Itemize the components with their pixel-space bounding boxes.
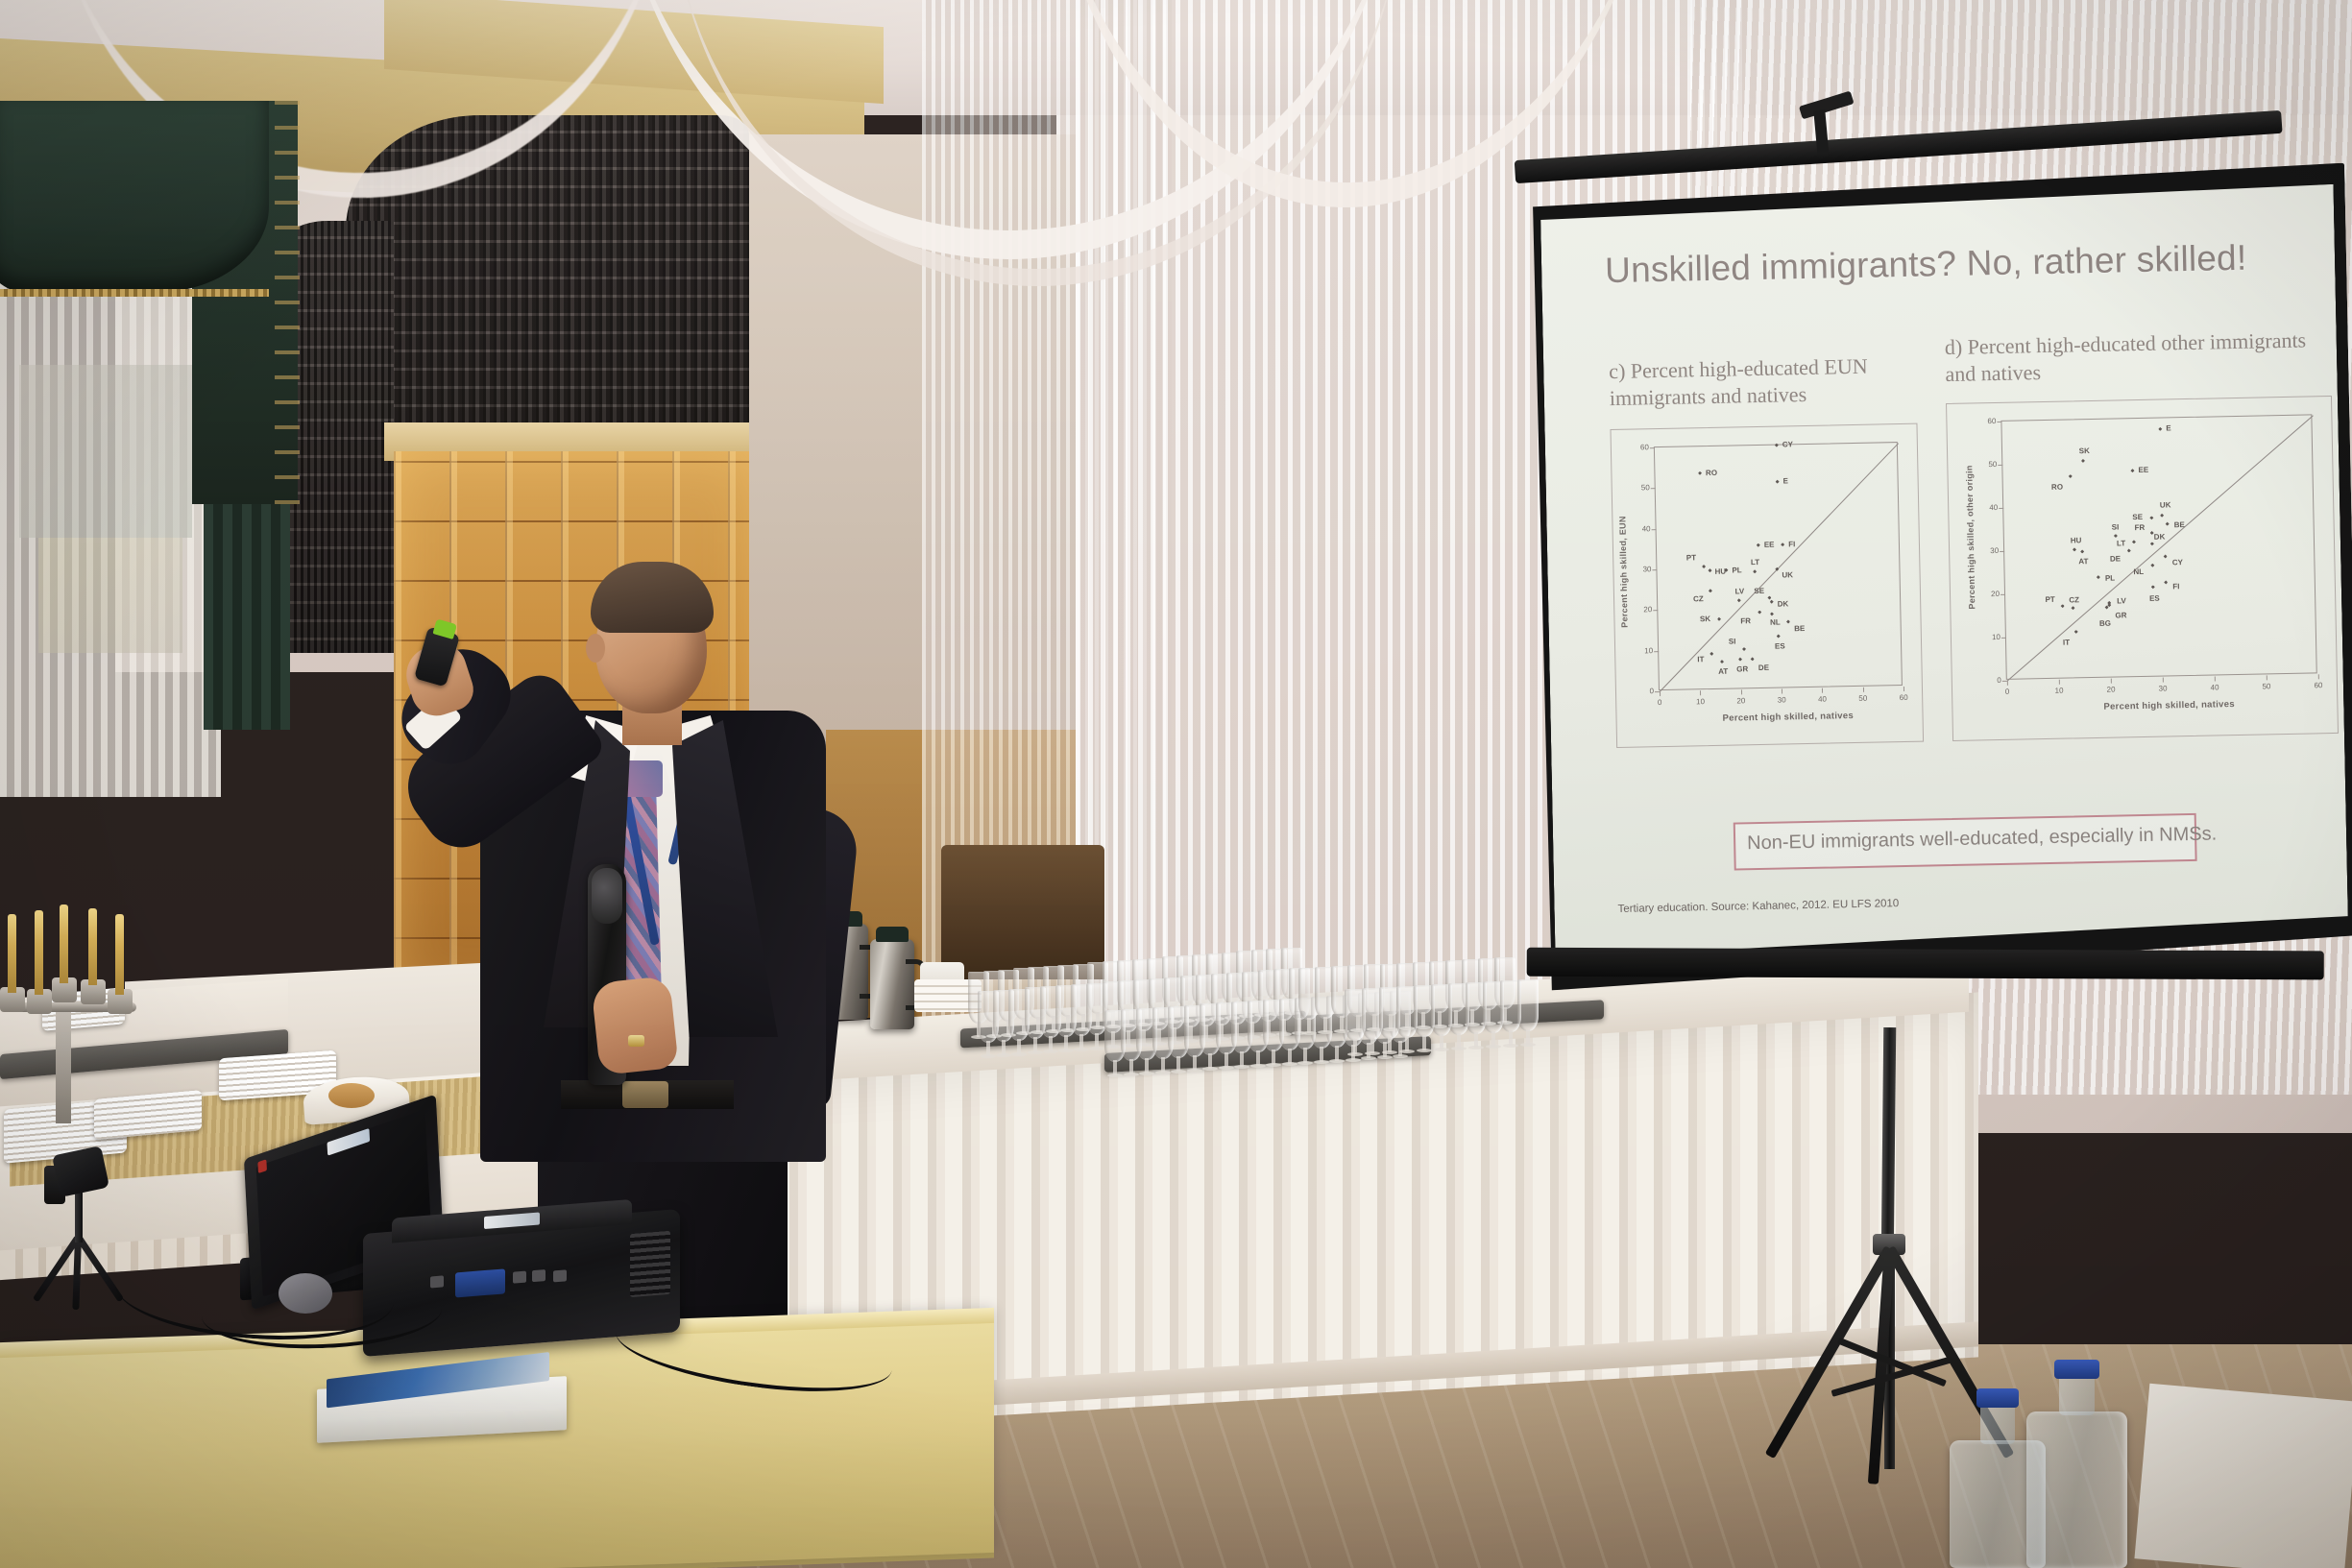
data-point-label: LV xyxy=(2117,597,2126,606)
data-point xyxy=(2114,534,2118,538)
y-axis-tick xyxy=(1997,422,2001,422)
data-point-label: FI xyxy=(2172,582,2179,591)
x-axis-tick-label: 50 xyxy=(2258,682,2275,690)
data-point xyxy=(1753,569,1757,573)
reference-diagonal xyxy=(2006,416,2313,682)
data-point-label: FI xyxy=(1788,540,1795,548)
y-axis-tick xyxy=(1998,465,2002,466)
data-point-label: CY xyxy=(2172,558,2183,567)
y-axis-tick-label: 20 xyxy=(1635,606,1652,615)
data-point xyxy=(2071,606,2074,610)
x-axis-title: Percent high skilled, natives xyxy=(2103,699,2235,712)
data-point xyxy=(1751,657,1755,661)
data-point-label: SE xyxy=(2132,512,2143,520)
data-point xyxy=(1742,647,1746,651)
data-point-label: IT xyxy=(1697,655,1704,663)
y-axis-tick-label: 50 xyxy=(1633,484,1650,493)
y-axis-tick-label: 0 xyxy=(1984,676,2001,685)
projection-screen: Unskilled immigrants? No, rather skilled… xyxy=(1528,162,2352,1024)
screen-tripod-upper-pole xyxy=(1881,1027,1897,1258)
y-axis-tick xyxy=(2001,638,2006,639)
projector-port xyxy=(532,1269,546,1282)
x-axis-tick xyxy=(2163,678,2164,683)
data-point xyxy=(2150,564,2154,567)
reference-diagonal xyxy=(1660,443,1900,692)
data-point xyxy=(1770,612,1774,615)
screen-surface: Unskilled immigrants? No, rather skilled… xyxy=(1540,184,2349,958)
x-axis-tick-label: 10 xyxy=(2050,687,2068,695)
data-point xyxy=(1757,543,1760,547)
paper-sheet xyxy=(2134,1384,2352,1568)
y-axis-tick xyxy=(1999,508,2003,509)
y-axis-tick xyxy=(2000,551,2004,552)
data-point-label: PT xyxy=(1686,553,1696,562)
data-point xyxy=(2164,580,2168,584)
data-point xyxy=(2080,549,2084,553)
panel-d-caption: d) Percent high-educated other immigrant… xyxy=(1945,326,2330,388)
y-axis-tick-label: 50 xyxy=(1979,460,1997,469)
data-point xyxy=(2164,554,2168,558)
y-axis-tick xyxy=(1653,610,1658,611)
data-point-label: RO xyxy=(1706,468,1717,476)
green-valance xyxy=(0,101,269,293)
panel-c-caption: c) Percent high-educated EUN immigrants … xyxy=(1609,351,1927,412)
data-point-label: NL xyxy=(1770,617,1781,626)
x-axis-tick xyxy=(2215,676,2216,681)
x-axis-tick-label: 40 xyxy=(2206,683,2223,691)
data-point-label: AT xyxy=(2078,557,2088,566)
plot-area-c: 01020304050600102030405060Percent high s… xyxy=(1654,442,1903,690)
data-point-label: EE xyxy=(2138,466,2148,474)
data-point xyxy=(2150,542,2154,545)
data-point xyxy=(1708,568,1711,572)
data-point-label: EE xyxy=(1764,540,1775,548)
data-point-label: FR xyxy=(2134,523,2145,532)
wedding-ring xyxy=(628,1035,644,1047)
data-point xyxy=(2105,605,2109,609)
data-point-label: ES xyxy=(1775,641,1785,650)
chart-panel-c: 01020304050600102030405060Percent high s… xyxy=(1610,423,1924,748)
projector-vga-port xyxy=(455,1268,505,1297)
y-axis-tick xyxy=(1652,529,1657,530)
data-point xyxy=(1770,600,1774,604)
data-point-label: GR xyxy=(1736,664,1748,673)
x-axis-tick-label: 30 xyxy=(1773,695,1790,704)
data-point xyxy=(2069,474,2073,478)
callout-box: Non-EU immigrants well-educated, especia… xyxy=(1734,813,2197,871)
x-axis-tick-label: 60 xyxy=(1895,693,1912,702)
data-point xyxy=(2097,575,2100,579)
bread-roll xyxy=(328,1083,375,1108)
candelabra-stem xyxy=(56,999,71,1123)
x-axis-tick-label: 0 xyxy=(1651,698,1668,707)
slide-source-note: Tertiary education. Source: Kahanec, 201… xyxy=(1617,898,1899,915)
x-axis-tick xyxy=(1741,689,1742,694)
x-axis-tick xyxy=(2007,681,2008,686)
thermos-carafe xyxy=(870,939,914,1029)
data-point xyxy=(2149,516,2153,519)
data-point xyxy=(2074,630,2078,634)
y-axis-tick xyxy=(1651,488,1656,489)
y-axis-tick xyxy=(1654,651,1659,652)
x-axis-tick-label: 50 xyxy=(1855,694,1872,703)
data-point xyxy=(1777,635,1781,639)
belt-buckle xyxy=(622,1081,668,1108)
y-axis-tick-label: 20 xyxy=(1982,590,2000,598)
y-axis-tick-label: 40 xyxy=(1980,503,1998,512)
x-axis-tick xyxy=(1903,687,1904,691)
y-axis-tick-label: 30 xyxy=(1981,546,1999,555)
data-point-label: PL xyxy=(2105,574,2115,583)
data-point-label: ES xyxy=(2149,593,2160,602)
x-axis-tick xyxy=(1660,691,1661,696)
data-point xyxy=(2107,603,2111,607)
taper-candle xyxy=(60,905,68,983)
x-axis-tick xyxy=(1700,690,1701,695)
data-point xyxy=(1720,660,1724,663)
x-axis-tick-label: 20 xyxy=(1733,696,1750,705)
y-axis-tick-label: 10 xyxy=(1636,646,1653,655)
x-axis-tick xyxy=(1822,688,1823,693)
window-pane xyxy=(19,365,192,538)
data-point-label: UK xyxy=(2160,501,2171,510)
data-point-label: SI xyxy=(2112,522,2120,531)
y-axis-tick-label: 60 xyxy=(1978,417,1996,425)
callout-text: Non-EU immigrants well-educated, especia… xyxy=(1747,823,2217,855)
data-point-label: LT xyxy=(1751,558,1759,567)
data-point-label: LT xyxy=(2117,540,2125,548)
data-point xyxy=(2166,522,2170,526)
x-axis-tick-label: 20 xyxy=(2102,685,2120,693)
data-point-label: BG xyxy=(2099,618,2111,627)
data-point-label: DK xyxy=(1778,599,1789,608)
cable-coil xyxy=(279,1273,332,1314)
y-axis-tick xyxy=(1650,447,1655,448)
data-point xyxy=(2160,514,2164,518)
data-point xyxy=(1781,543,1784,546)
mini-tripod-leg xyxy=(72,1237,82,1310)
x-axis-tick-label: 10 xyxy=(1691,697,1709,706)
window-pane-lower xyxy=(38,538,182,653)
data-point xyxy=(2073,547,2076,551)
data-point xyxy=(1737,598,1741,602)
data-point xyxy=(2127,548,2131,552)
y-axis-tick xyxy=(2000,594,2005,595)
chart-panel-d: 01020304050600102030405060Percent high s… xyxy=(1946,396,2339,741)
data-point-label: E xyxy=(2166,424,2171,433)
y-axis-tick-label: 40 xyxy=(1633,524,1650,533)
data-point-label: SK xyxy=(2079,446,2090,455)
data-point xyxy=(1786,619,1790,623)
screen-bottom-bar xyxy=(1527,948,2324,980)
projector-port xyxy=(553,1269,567,1282)
data-point xyxy=(2132,540,2136,543)
data-point-label: E xyxy=(1783,476,1789,485)
photo-scene: Unskilled immigrants? No, rather skilled… xyxy=(0,0,2352,1568)
data-point xyxy=(1702,565,1706,568)
data-point-label: BE xyxy=(1794,624,1805,633)
y-axis-tick-label: 30 xyxy=(1634,565,1651,573)
data-point xyxy=(1717,617,1721,621)
presenter-right-hand xyxy=(591,976,679,1075)
slide-title: Unskilled immigrants? No, rather skilled… xyxy=(1605,237,2278,291)
data-point xyxy=(2130,469,2134,472)
data-point-label: RO xyxy=(2051,482,2063,491)
data-point-label: PT xyxy=(2045,594,2054,603)
data-point xyxy=(1709,589,1712,592)
data-point xyxy=(1776,480,1780,484)
data-point xyxy=(1709,652,1713,656)
slide: Unskilled immigrants? No, rather skilled… xyxy=(1591,227,2328,953)
x-axis-tick-label: 40 xyxy=(1813,695,1831,704)
data-point-label: HU xyxy=(1714,567,1726,576)
data-point xyxy=(1758,610,1761,614)
data-point-label: IT xyxy=(2063,638,2070,646)
x-axis-tick xyxy=(2059,680,2060,685)
x-axis-tick xyxy=(1863,688,1864,692)
wood-cabinet xyxy=(941,845,1104,979)
wine-glass xyxy=(1517,979,1539,1031)
data-point-label: CZ xyxy=(1693,594,1704,603)
projector-port xyxy=(513,1271,526,1284)
data-point-label: CZ xyxy=(2069,595,2079,604)
data-point-label: FR xyxy=(1740,616,1751,625)
data-point-label: SK xyxy=(1700,615,1710,623)
y-axis-tick xyxy=(1652,569,1657,570)
plot-area-d: 01020304050600102030405060Percent high s… xyxy=(2000,414,2316,679)
taper-candle xyxy=(115,914,124,995)
y-axis-tick-label: 60 xyxy=(1632,443,1649,451)
data-point-label: LV xyxy=(1734,587,1744,595)
data-point xyxy=(2061,604,2065,608)
data-point-label: DE xyxy=(1758,663,1769,672)
data-point-label: HU xyxy=(2071,536,2082,544)
y-axis-title: Percent high skilled, EUN xyxy=(1617,516,1629,628)
data-point-label: CY xyxy=(1782,440,1793,448)
y-axis-tick-label: 0 xyxy=(1637,687,1654,695)
y-axis-tick-label: 10 xyxy=(1983,633,2000,641)
data-point-label: UK xyxy=(1782,570,1793,579)
data-point xyxy=(2158,427,2162,431)
taper-candle xyxy=(35,910,43,995)
x-axis-tick-label: 60 xyxy=(2310,681,2327,689)
data-point xyxy=(2151,585,2155,589)
data-point xyxy=(1767,595,1771,599)
data-point xyxy=(1775,444,1779,447)
data-point-label: DK xyxy=(2154,532,2166,541)
data-point-label: DE xyxy=(2110,555,2121,564)
x-axis-tick xyxy=(1782,689,1782,694)
data-point-label: SE xyxy=(1754,587,1764,595)
projector-vent xyxy=(630,1231,670,1297)
x-axis-tick xyxy=(2267,675,2267,680)
x-axis-tick xyxy=(2111,679,2112,684)
data-point-label: AT xyxy=(1718,667,1728,676)
x-axis-tick-label: 0 xyxy=(1999,688,2016,696)
taper-candle xyxy=(88,908,97,985)
data-point xyxy=(2081,459,2085,463)
water-bottle[interactable] xyxy=(2026,1411,2127,1568)
presenter-ear xyxy=(586,634,605,663)
data-point-label: GR xyxy=(2115,611,2126,619)
data-point-label: PL xyxy=(1732,566,1741,574)
data-point-label: BE xyxy=(2174,520,2185,529)
data-point xyxy=(1738,658,1742,662)
x-axis-tick xyxy=(2318,674,2319,679)
data-point-label: NL xyxy=(2133,567,2144,576)
data-point xyxy=(1698,471,1702,475)
x-axis-title: Percent high skilled, natives xyxy=(1722,711,1854,724)
x-axis-tick-label: 30 xyxy=(2154,684,2171,692)
data-point-label: SI xyxy=(1729,637,1736,645)
y-axis-title: Percent high skilled, other origin xyxy=(1964,465,1976,609)
taper-candle xyxy=(8,914,16,993)
